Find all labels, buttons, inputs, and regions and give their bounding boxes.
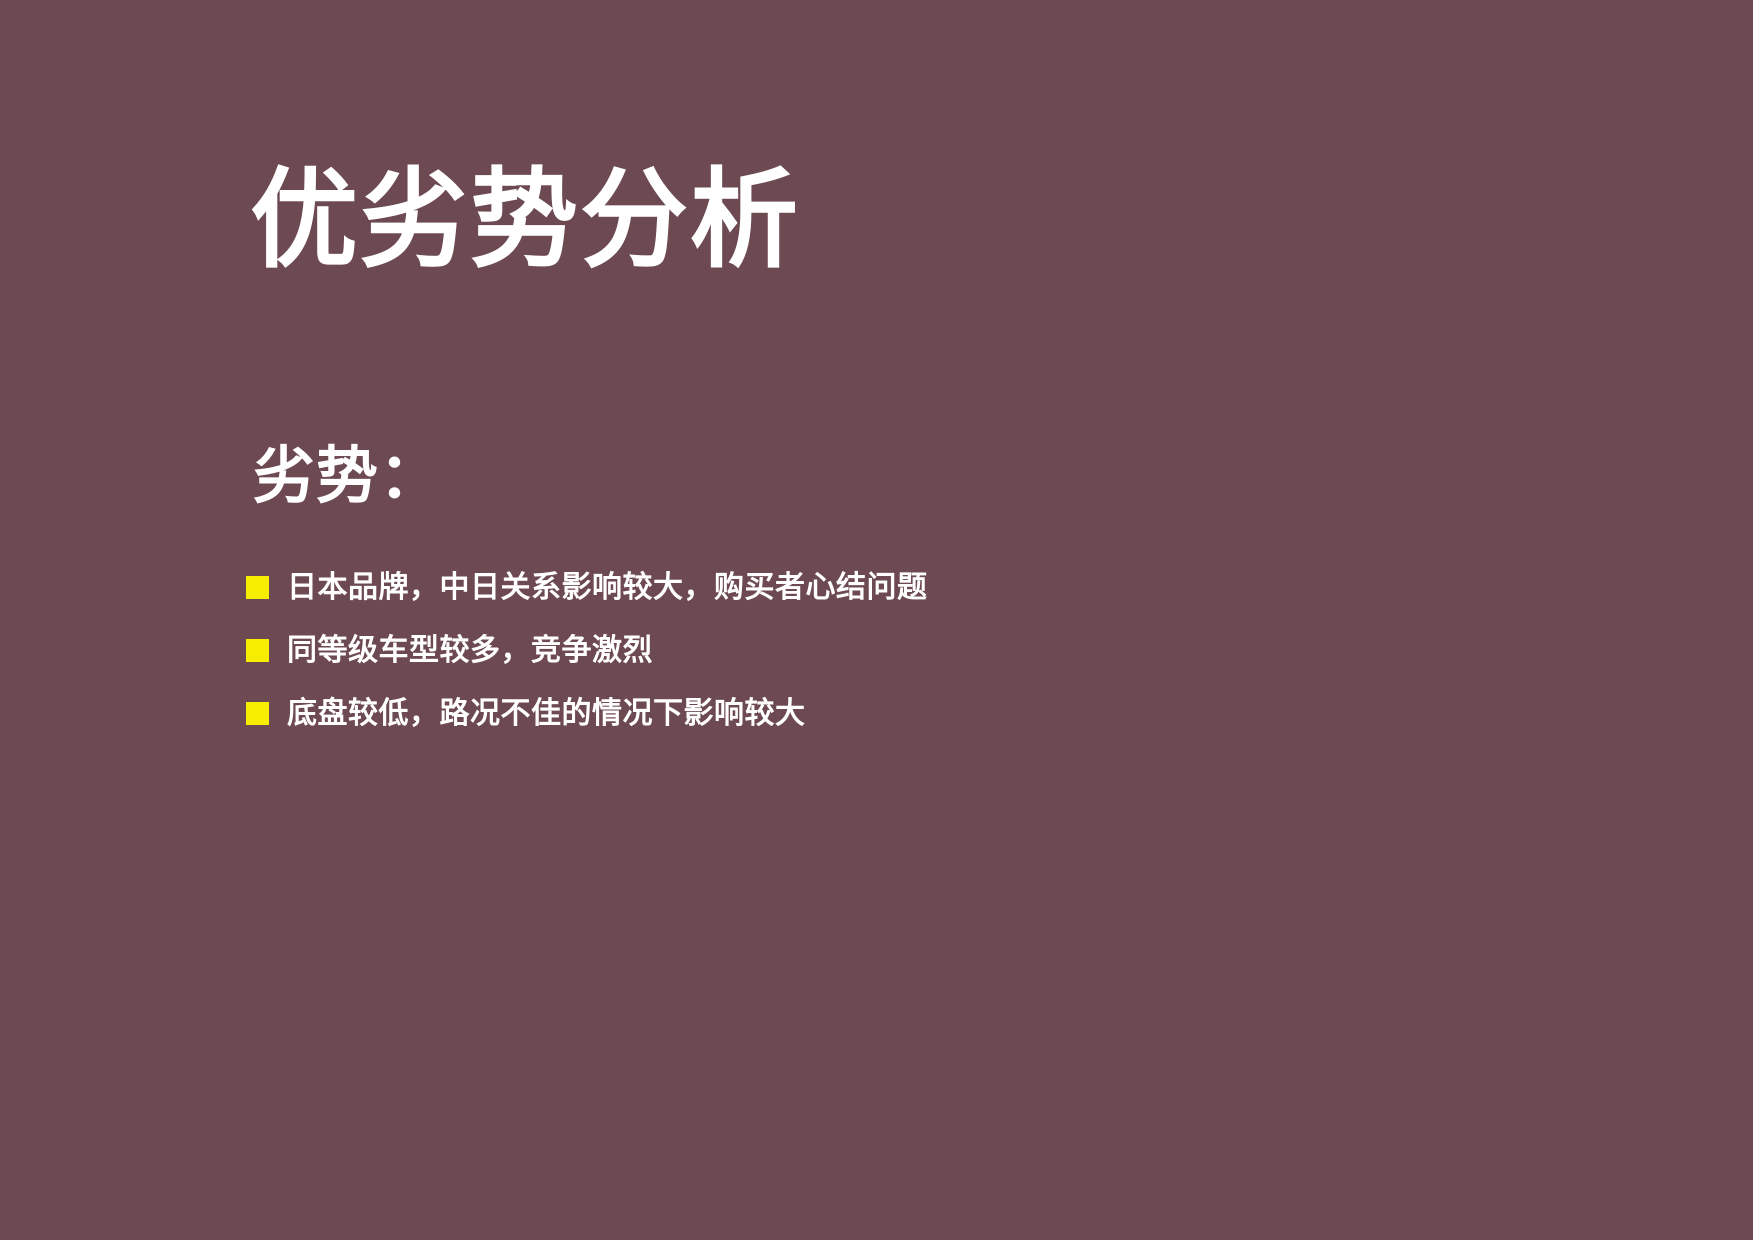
weaknesses-bullet-list: 日本品牌，中日关系影响较大，购买者心结问题 同等级车型较多，竞争激烈 底盘较低，… bbox=[246, 558, 1546, 747]
square-bullet-icon bbox=[246, 639, 269, 662]
list-item-label: 底盘较低，路况不佳的情况下影响较大 bbox=[287, 694, 806, 733]
square-bullet-icon bbox=[246, 702, 269, 725]
list-item: 同等级车型较多，竞争激烈 bbox=[246, 621, 1546, 679]
square-bullet-icon bbox=[246, 576, 269, 599]
list-item-label: 同等级车型较多，竞争激烈 bbox=[287, 631, 653, 670]
presentation-slide: 优劣势分析 劣势： 日本品牌，中日关系影响较大，购买者心结问题 同等级车型较多，… bbox=[0, 0, 1753, 1240]
list-item: 底盘较低，路况不佳的情况下影响较大 bbox=[246, 684, 1546, 742]
list-item-label: 日本品牌，中日关系影响较大，购买者心结问题 bbox=[287, 568, 928, 607]
page-title: 优劣势分析 bbox=[250, 160, 800, 281]
section-heading-weaknesses: 劣势： bbox=[253, 440, 442, 514]
list-item: 日本品牌，中日关系影响较大，购买者心结问题 bbox=[246, 558, 1546, 616]
